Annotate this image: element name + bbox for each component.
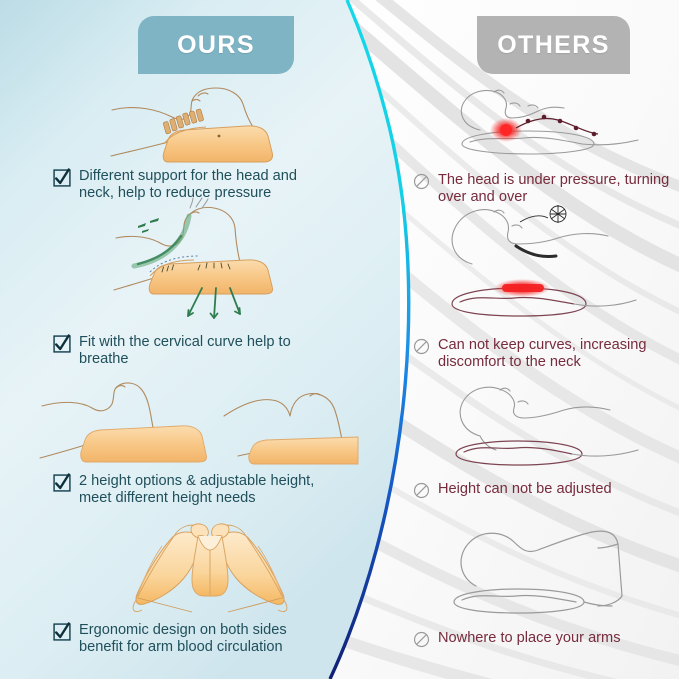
illustration-snoring-blocked-airway [424, 200, 658, 330]
illustration-flat-pillow-sagging-neck [434, 382, 654, 472]
feature-ours-4-text: Ergonomic design on both sides benefit f… [79, 622, 287, 656]
feature-ours-1-text: Different support for the head and neck,… [79, 168, 297, 202]
feature-ours-3-text: 2 height options & adjustable height, me… [79, 473, 314, 507]
header-badge-ours: OURS [138, 16, 294, 74]
prohibition-icon [413, 482, 430, 499]
feature-others-2: Can not keep curves, increasing discomfo… [413, 337, 671, 371]
feature-ours-4: Ergonomic design on both sides benefit f… [53, 622, 353, 656]
illustration-pillow-no-arm-space [432, 522, 662, 622]
checkbox-checked-icon [53, 169, 71, 187]
feature-others-4: Nowhere to place your arms [413, 630, 671, 648]
prohibition-icon [413, 338, 430, 355]
prohibition-icon [413, 631, 430, 648]
feature-ours-2-text: Fit with the cervical curve help to brea… [79, 334, 291, 368]
prohibition-icon [413, 173, 430, 190]
illustration-flat-pillow-pressure [432, 86, 662, 166]
checkbox-checked-icon [53, 623, 71, 641]
feature-ours-3: 2 height options & adjustable height, me… [53, 473, 353, 507]
feature-others-3: Height can not be adjusted [413, 481, 671, 499]
feature-others-4-text: Nowhere to place your arms [438, 630, 621, 647]
feature-ours-1: Different support for the head and neck,… [53, 168, 353, 202]
illustration-arm-cutouts-top-view [100, 520, 320, 620]
illustration-side-sleeper-spine [106, 84, 316, 166]
checkbox-checked-icon [53, 474, 71, 492]
feature-others-1-text: The head is under pressure, turning over… [438, 172, 669, 206]
feature-others-1: The head is under pressure, turning over… [413, 172, 671, 206]
feature-ours-2: Fit with the cervical curve help to brea… [53, 334, 353, 368]
checkbox-checked-icon [53, 335, 71, 353]
feature-others-2-text: Can not keep curves, increasing discomfo… [438, 337, 646, 371]
header-badge-others: OTHERS [477, 16, 630, 74]
comparison-infographic: OURS OTHERS [0, 0, 679, 679]
feature-others-3-text: Height can not be adjusted [438, 481, 612, 498]
illustration-airflow-breathing [106, 198, 316, 326]
illustration-two-height-options [28, 382, 358, 472]
